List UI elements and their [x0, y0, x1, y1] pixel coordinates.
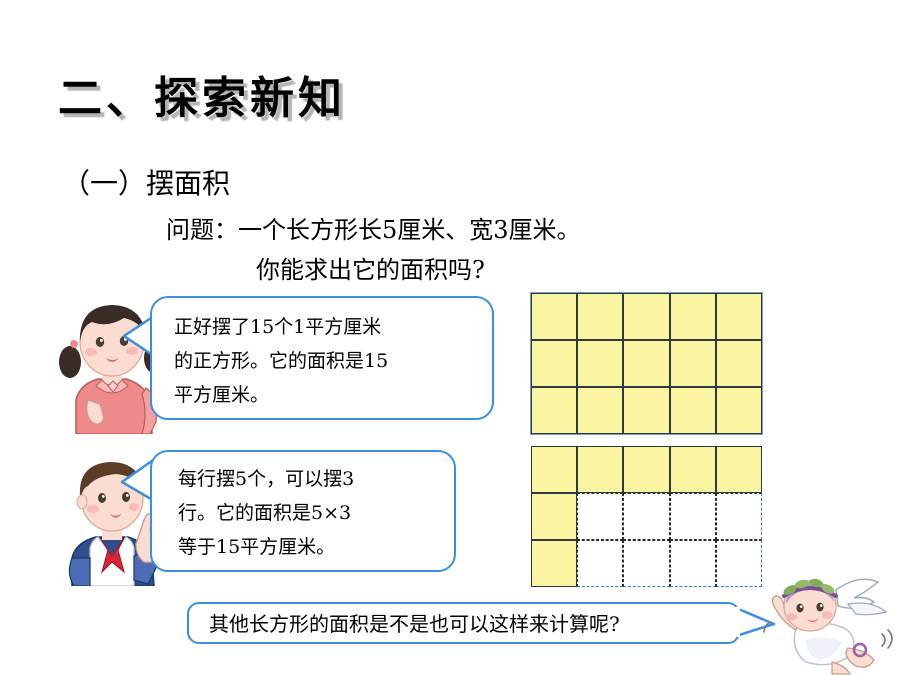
grid-cell — [623, 446, 669, 493]
grid-cell — [577, 293, 623, 340]
grid-cell — [670, 446, 716, 493]
grid-cell — [531, 540, 577, 587]
grid-cell — [716, 493, 762, 540]
question-line-2: 你能求出它的面积吗? — [256, 250, 485, 285]
grid-cell — [577, 387, 623, 434]
grid-cell — [716, 540, 762, 587]
grid-cell — [716, 340, 762, 387]
grid-cell — [670, 340, 716, 387]
grid-cell — [531, 293, 577, 340]
grid-cell — [670, 387, 716, 434]
grid-cell — [577, 446, 623, 493]
boy-bubble-line-3: 等于15平方厘米。 — [178, 530, 454, 564]
girl-speech-bubble: 正好摆了15个1平方厘米 的正方形。它的面积是15 平方厘米。 — [150, 296, 494, 420]
girl-bubble-line-1: 正好摆了15个1平方厘米 — [174, 310, 492, 344]
section-subtitle: （一）摆面积 — [62, 162, 230, 202]
girl-bubble-line-2: 的正方形。它的面积是15 — [174, 344, 492, 378]
grid-cell — [670, 293, 716, 340]
boy-bubble-line-2: 行。它的面积是5×3 — [178, 496, 454, 530]
girl-bubble-line-3: 平方厘米。 — [174, 378, 492, 412]
grid-cell — [531, 493, 577, 540]
area-grid-filled — [531, 293, 762, 434]
grid-cell — [623, 387, 669, 434]
page-title: 二、探索新知 — [58, 62, 346, 126]
grid-cell — [531, 340, 577, 387]
grid-cell — [577, 340, 623, 387]
grid-cell — [531, 387, 577, 434]
boy-speech-bubble: 每行摆5个，可以摆3 行。它的面积是5×3 等于15平方厘米。 — [150, 450, 456, 572]
grid-cell — [716, 446, 762, 493]
grid-cell — [531, 446, 577, 493]
boy-bubble-line-1: 每行摆5个，可以摆3 — [178, 462, 454, 496]
grid-cell — [716, 293, 762, 340]
grid-cell — [716, 387, 762, 434]
cherub-angel-illustration — [762, 578, 900, 675]
grid-cell — [577, 493, 623, 540]
grid-cell — [623, 293, 669, 340]
angel-speech-bubble: 其他长方形的面积是不是也可以这样来计算呢? — [187, 602, 740, 644]
area-grid-partial — [531, 446, 762, 587]
angel-bubble-text: 其他长方形的面积是不是也可以这样来计算呢? — [209, 604, 738, 644]
grid-cell — [623, 540, 669, 587]
grid-cell — [623, 493, 669, 540]
grid-cell — [623, 340, 669, 387]
slide-canvas: 二、探索新知 （一）摆面积 问题：一个长方形长5厘米、宽3厘米。 你能求出它的面… — [0, 0, 900, 675]
grid-cell — [670, 493, 716, 540]
grid-cell — [577, 540, 623, 587]
grid-cell — [670, 540, 716, 587]
question-line-1: 问题：一个长方形长5厘米、宽3厘米。 — [166, 210, 581, 245]
